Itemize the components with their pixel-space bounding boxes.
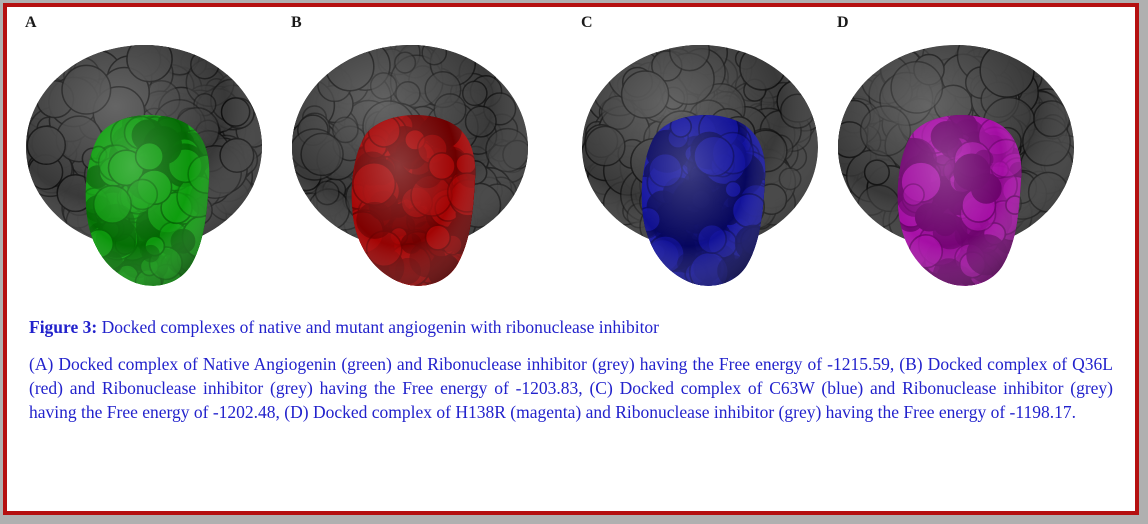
figure-number: Figure 3: [29, 317, 97, 337]
panel-label-d: D [837, 15, 849, 31]
figure-panel-c: C [569, 7, 841, 305]
panel-label-a: A [25, 15, 37, 31]
figure-panel-d: D [825, 7, 1097, 305]
figure-panel-a: A [13, 7, 285, 305]
figure-frame: A B C D Figure 3: Docked complexes of na… [3, 3, 1139, 515]
figure-panel-b: B [279, 7, 551, 305]
figure-body-text: (A) Docked complex of Native Angiogenin … [29, 352, 1113, 424]
panel-label-b: B [291, 15, 302, 31]
panel-label-c: C [581, 15, 593, 31]
figure-caption-line: Figure 3: Docked complexes of native and… [29, 317, 1113, 339]
docked-complex-image-a [13, 29, 285, 305]
docked-complex-image-c [569, 29, 841, 305]
figure-caption-area: Figure 3: Docked complexes of native and… [7, 305, 1135, 511]
panel-row: A B C D [7, 7, 1135, 305]
docked-complex-image-d [825, 29, 1097, 305]
figure-caption-title: Docked complexes of native and mutant an… [97, 317, 659, 337]
docked-complex-image-b [279, 29, 551, 305]
